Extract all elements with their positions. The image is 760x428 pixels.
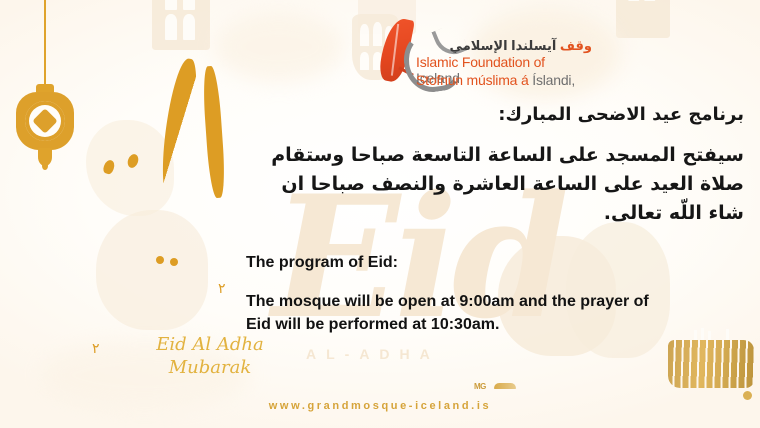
english-body-line-1: The mosque will be open at 9:00am and th…	[246, 290, 744, 313]
logo-arabic-dark: آيسلندا الإسلامي	[450, 38, 557, 53]
logo-arabic-orange: وقف	[560, 38, 592, 53]
arabic-body: سيفتح المسجد على الساعة التاسعة صباحا وس…	[246, 141, 744, 228]
announcement-copy: برنامج عيد الاضحى المبارك: سيفتح المسجد …	[246, 104, 744, 336]
script-line-2: Mubarak	[150, 357, 270, 380]
eid-script-text: Eid Al Adha Mubarak	[150, 334, 270, 379]
corner-calligraphy-ornament	[668, 326, 754, 402]
logo-line-2: Stofnun múslima á Íslandi,	[416, 72, 596, 88]
english-heading: The program of Eid:	[246, 254, 744, 272]
arch-ornament-right	[616, 0, 670, 38]
website-url[interactable]: www.grandmosque-iceland.is	[0, 400, 760, 412]
watermark-al-adha: AL-ADHA	[306, 346, 440, 362]
logo-line-2-grey: Íslandi,	[532, 72, 575, 88]
script-line-1: Eid Al Adha	[150, 334, 270, 357]
arabic-body-line-3: شاء اللّه تعالى.	[246, 199, 744, 228]
dome-icon	[494, 383, 516, 389]
footer-mosque-mark-icon: MG	[474, 379, 522, 391]
footer-mark-text: MG	[474, 382, 486, 391]
eid-announcement-poster: Eid AL-ADHA ٢٢٢ Eid Al Adha Mubarak	[0, 0, 760, 428]
logo-arabic-name: وقف آيسلندا الإسلامي	[424, 38, 592, 54]
eid-al-adha-calligraphy: ٢٢٢ Eid Al Adha Mubarak	[18, 52, 278, 332]
arch-ornament-left	[152, 0, 210, 50]
arabic-body-line-2: صلاة العيد على الساعة العاشرة والنصف صبا…	[246, 170, 744, 199]
arabic-body-line-1: سيفتح المسجد على الساعة التاسعة صباحا وس…	[246, 141, 744, 170]
logo-line-2-orange: Stofnun múslima á	[416, 72, 529, 88]
arabic-heading: برنامج عيد الاضحى المبارك:	[246, 104, 744, 125]
logo-line-1-orange: Islamic Foundation of	[416, 54, 545, 70]
organization-logo: وقف آيسلندا الإسلامي Islamic Foundation …	[352, 12, 592, 96]
